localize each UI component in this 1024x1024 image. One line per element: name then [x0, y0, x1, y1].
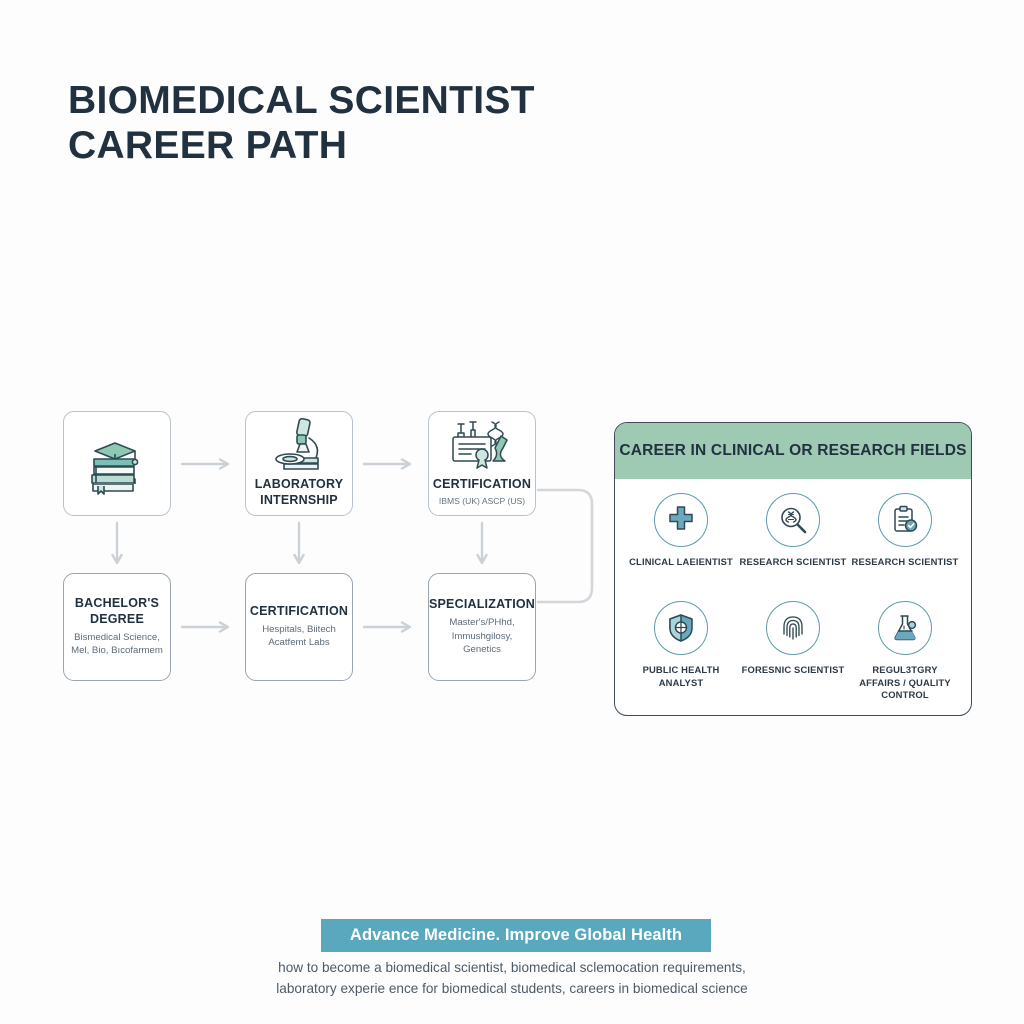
flow-box-title: CERTIFICATION [433, 477, 531, 493]
clipboard-check-icon [878, 493, 932, 547]
title-line-2: CAREER PATH [68, 123, 708, 168]
career-panel: CAREER IN CLINICAL OR RESEARCH FIELDS CL… [614, 422, 972, 716]
flow-box-subtitle: IBMS (UK) ASCP (US) [439, 495, 525, 507]
flow-box-title: LABORATORY INTERNSHIP [246, 477, 352, 508]
flow-box-bachelors-degree[interactable]: BACHELOR'S DEGREE Bismedical Science, Me… [63, 573, 171, 681]
flow-box-specialization[interactable]: SPECIALIZATION Master's/PHhd, Immushgilo… [428, 573, 536, 681]
footer-banner: Advance Medicine. Improve Global Health [321, 919, 711, 952]
career-item-research-scientist-2[interactable]: RESEARCH SCIENTIST [851, 493, 959, 599]
career-panel-header: CAREER IN CLINICAL OR RESEARCH FIELDS [615, 423, 971, 479]
flow-box-title: CERTIFICATION [250, 604, 348, 620]
page-title: BIOMEDICAL SCIENTIST CAREER PATH [68, 78, 708, 168]
career-grid: CLINICAL LAEIENTIST RESEARCH SCIENTI [615, 479, 971, 716]
footer-keywords-line-2: laboratory experie ence for biomedical s… [0, 978, 1024, 999]
infographic-canvas: BIOMEDICAL SCIENTIST CAREER PATH [0, 0, 1024, 1024]
arrow-bachelors-degree-to-certification [180, 620, 236, 632]
flow-box-bachelors-icon[interactable] [63, 411, 171, 516]
career-item-clinical-scientist[interactable]: CLINICAL LAEIENTIST [627, 493, 735, 599]
flow-box-subtitle: Hespitals, Biitech Acatfemt Labs [251, 623, 347, 650]
title-line-1: BIOMEDICAL SCIENTIST [68, 79, 535, 122]
career-item-research-scientist-1[interactable]: RESEARCH SCIENTIST [739, 493, 847, 599]
arrow-certification-to-specialization [362, 620, 418, 632]
footer-keywords-line-1: how to become a biomedical scientist, bi… [0, 957, 1024, 978]
flow-box-title: SPECIALIZATION [429, 597, 535, 613]
flask-icon [878, 601, 932, 655]
arrow-bachelors-to-internship [180, 457, 236, 469]
magnifier-dna-icon [766, 493, 820, 547]
flow-box-title: BACHELOR'S DEGREE [69, 596, 165, 627]
career-item-label: REGUL3TGRY AFFAIRS / QUALITY CONTROL [851, 664, 959, 702]
fingerprint-icon [766, 601, 820, 655]
arrow-down-internship [293, 521, 305, 569]
graduation-cap-books-icon [79, 424, 155, 503]
flow-box-certification[interactable]: CERTIFICATION Hespitals, Biitech Acatfem… [245, 573, 353, 681]
flow-box-subtitle: Bismedical Science, Mel, Bio, Bıcofarmem [69, 631, 165, 658]
arrow-down-bachelors [111, 521, 123, 569]
footer-keywords: how to become a biomedical scientist, bi… [0, 957, 1024, 999]
flow-box-laboratory-internship[interactable]: LABORATORY INTERNSHIP [245, 411, 353, 516]
flow-box-certification-top[interactable]: CERTIFICATION IBMS (UK) ASCP (US) [428, 411, 536, 516]
career-item-label: PUBLIC HEALTH ANALYST [627, 664, 735, 689]
medical-cross-icon [654, 493, 708, 547]
flow-box-subtitle: Master's/PHhd, Immushgilosy, Genetics [433, 616, 531, 657]
shield-health-icon [654, 601, 708, 655]
career-item-label: RESEARCH SCIENTIST [740, 556, 847, 569]
career-item-label: FORESNIC SCIENTIST [742, 664, 845, 677]
arrow-internship-to-certification [362, 457, 418, 469]
microscope-icon [264, 414, 334, 477]
career-item-label: CLINICAL LAEIENTIST [629, 556, 733, 569]
arrow-down-certification [476, 521, 488, 569]
footer-banner-text: Advance Medicine. Improve Global Health [350, 926, 682, 945]
career-item-label: RESEARCH SCIENTIST [852, 556, 959, 569]
career-item-regulatory-affairs[interactable]: REGUL3TGRY AFFAIRS / QUALITY CONTROL [851, 601, 959, 707]
career-item-public-health-analyst[interactable]: PUBLIC HEALTH ANALYST [627, 601, 735, 707]
career-item-forensic-scientist[interactable]: FORESNIC SCIENTIST [739, 601, 847, 707]
certificate-lab-icon [445, 418, 519, 477]
